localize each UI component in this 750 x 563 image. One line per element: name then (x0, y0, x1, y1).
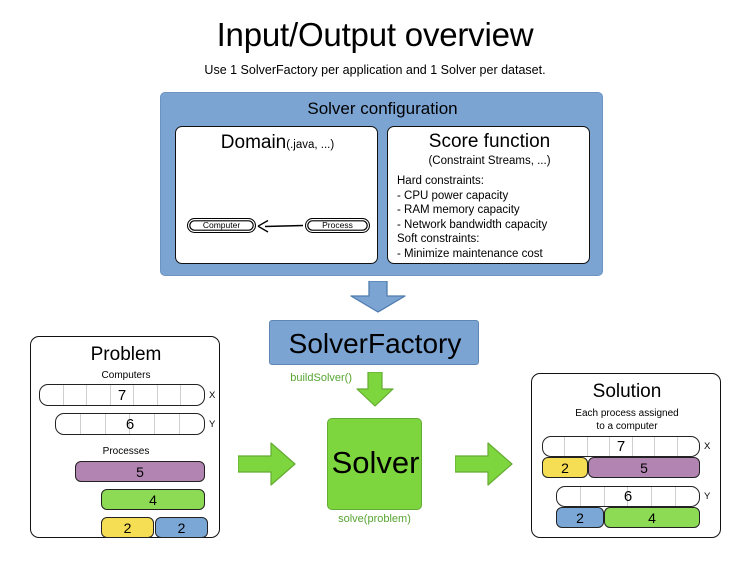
process-bar: 2 (101, 517, 154, 538)
solution-caption-line2: to a computer (596, 421, 657, 432)
computer-capacity: 7 (40, 385, 204, 405)
solver-label: Solver (328, 442, 423, 484)
assigned-process-bar: 4 (604, 507, 700, 528)
domain-heading-suffix: (.java, ...) (286, 139, 334, 151)
constraint-line: Hard constraints: (397, 174, 589, 189)
problem-computers-label: Computers (31, 369, 221, 382)
er-node-computer: Computer (187, 218, 256, 233)
constraint-line: - CPU power capacity (397, 189, 589, 204)
computer-axis-label: Y (209, 419, 215, 431)
problem-card: Problem Computers 7 X 6 Y Processes 5 4 … (30, 336, 220, 538)
solution-card: Solution Each process assigned to a comp… (531, 373, 721, 538)
computer-capacity: 7 (543, 437, 699, 456)
solver-configuration-title: Solver configuration (161, 98, 604, 120)
solver-configuration-panel: Solver configuration Domain(.java, ...) … (160, 92, 603, 276)
solution-title: Solution (532, 379, 722, 404)
computer-capacity: 6 (56, 414, 204, 434)
score-function-constraint-list: Hard constraints: - CPU power capacity -… (397, 174, 589, 262)
problem-processes-label: Processes (31, 445, 221, 458)
constraint-line: - RAM memory capacity (397, 203, 589, 218)
score-function-heading: Score function (388, 130, 591, 154)
computer-axis-label: X (704, 441, 710, 453)
arrow-down-icon (348, 281, 408, 313)
er-node-process: Process (305, 218, 370, 233)
assigned-process-bar: 5 (588, 457, 700, 478)
arrowhead-left-icon (256, 218, 305, 232)
assigned-process-bar: 2 (556, 507, 604, 528)
domain-heading-main: Domain (221, 132, 286, 153)
score-function-subheading: (Constraint Streams, ...) (388, 154, 591, 169)
assigned-process-bar: 2 (542, 457, 588, 478)
solve-problem-label: solve(problem) (312, 512, 437, 526)
build-solver-label: buildSolver() (286, 371, 352, 385)
computer-axis-label: Y (704, 491, 710, 503)
solver-factory-box: SolverFactory (269, 320, 479, 365)
solution-caption: Each process assigned to a computer (532, 407, 722, 433)
computer-bar: 6 (55, 413, 205, 435)
arrow-down-icon (355, 372, 395, 407)
page-title: Input/Output overview (0, 16, 750, 54)
computer-bar: 7 (542, 436, 700, 457)
solver-factory-label: SolverFactory (270, 325, 480, 362)
computer-bar: 6 (556, 486, 700, 507)
arrow-right-icon (455, 440, 513, 488)
constraint-line: Soft constraints: (397, 232, 589, 247)
solver-box: Solver (327, 418, 422, 510)
computer-axis-label: X (209, 390, 215, 402)
domain-heading: Domain(.java, ...) (176, 131, 379, 157)
problem-title: Problem (31, 342, 221, 367)
process-bar: 2 (155, 517, 208, 538)
computer-bar: 7 (39, 384, 205, 406)
page-subtitle: Use 1 SolverFactory per application and … (0, 62, 750, 78)
constraint-line: - Minimize maintenance cost (397, 247, 589, 262)
solution-caption-line1: Each process assigned (575, 408, 678, 419)
process-bar: 4 (101, 489, 205, 510)
computer-capacity: 6 (557, 487, 699, 506)
arrow-right-icon (238, 440, 296, 488)
domain-card: Domain(.java, ...) Computer Process (175, 126, 378, 264)
score-function-card: Score function (Constraint Streams, ...)… (387, 126, 590, 264)
constraint-line: - Network bandwidth capacity (397, 218, 589, 233)
process-bar: 5 (75, 461, 205, 482)
